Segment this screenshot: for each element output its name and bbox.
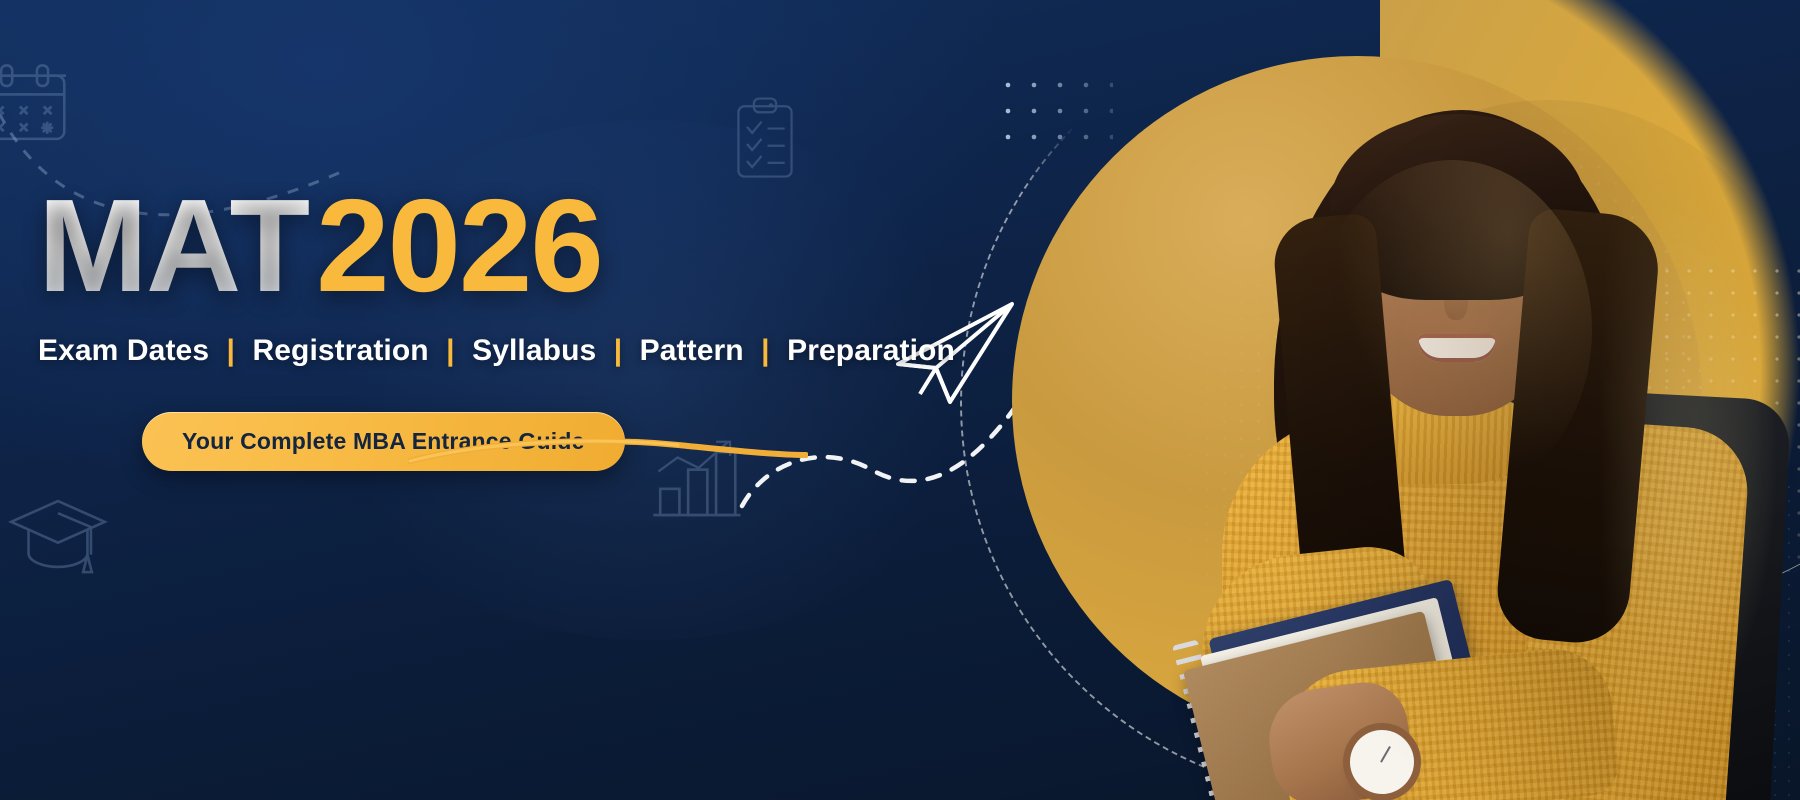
graduation-cap-icon [6, 492, 110, 576]
mat-2026-hero-banner: MAT2026 Exam Dates | Registration | Syll… [0, 0, 1800, 800]
headline-brand: MAT [38, 172, 316, 319]
topic-list: Exam Dates | Registration | Syllabus | P… [38, 334, 938, 368]
clipboard-checklist-icon [735, 96, 795, 180]
page-title: MAT2026 [38, 180, 938, 312]
calendar-icon [0, 62, 68, 144]
headline-year: 2026 [316, 172, 602, 319]
hero-visual-stage [900, 0, 1800, 800]
topic-separator: | [437, 334, 464, 367]
topic-registration[interactable]: Registration [252, 334, 428, 367]
topic-separator: | [752, 334, 779, 367]
topic-syllabus[interactable]: Syllabus [472, 334, 596, 367]
gold-swoosh-decoration [408, 435, 808, 469]
topic-preparation[interactable]: Preparation [787, 334, 955, 367]
topic-pattern[interactable]: Pattern [640, 334, 744, 367]
topic-separator: | [605, 334, 632, 367]
student-photo [1098, 40, 1798, 800]
hero-content: MAT2026 Exam Dates | Registration | Syll… [38, 180, 938, 471]
topic-separator: | [218, 334, 245, 367]
topic-exam-dates[interactable]: Exam Dates [38, 334, 209, 367]
